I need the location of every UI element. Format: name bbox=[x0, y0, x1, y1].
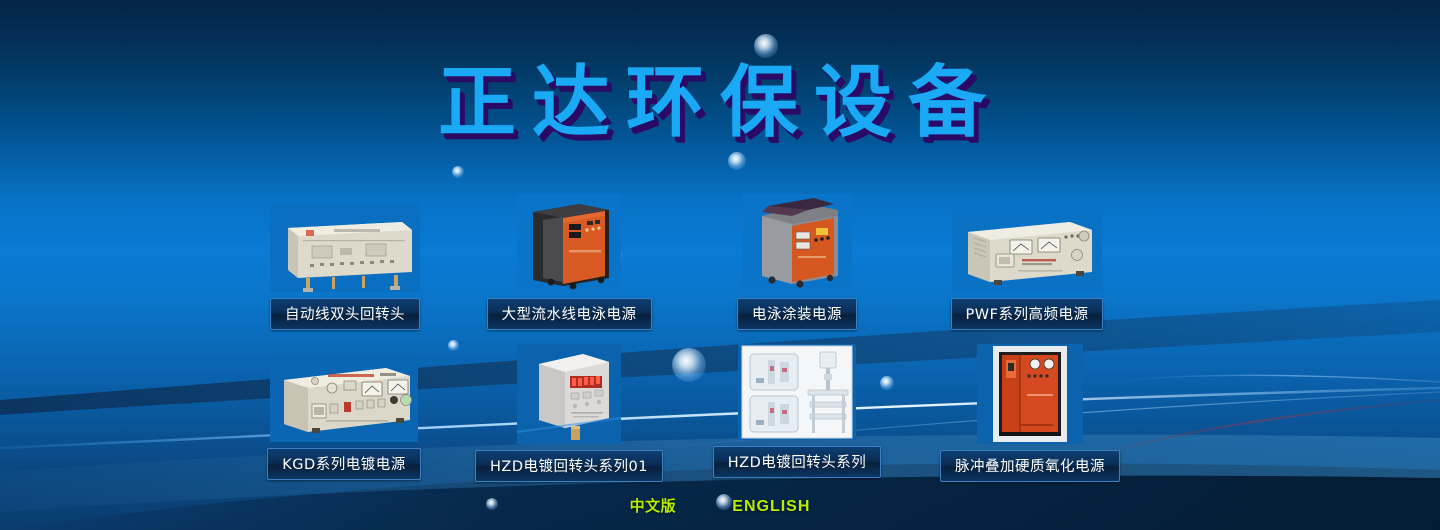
product-image-large-line-electrophoresis-power bbox=[517, 194, 621, 292]
product-image-kgd-plating-power bbox=[270, 354, 418, 442]
product-label[interactable]: KGD系列电镀电源 bbox=[267, 448, 420, 480]
product-card[interactable]: HZD电镀回转头系列01 bbox=[494, 344, 644, 482]
product-label[interactable]: 大型流水线电泳电源 bbox=[487, 298, 652, 330]
product-image-electrophoretic-coating-power bbox=[742, 194, 852, 292]
product-card[interactable]: 自动线双头回转头 bbox=[265, 204, 425, 330]
language-link-english[interactable]: ENGLISH bbox=[732, 498, 810, 515]
product-card[interactable]: PWF系列高频电源 bbox=[951, 210, 1103, 330]
language-link-chinese[interactable]: 中文版 bbox=[630, 498, 677, 515]
product-label[interactable]: 自动线双头回转头 bbox=[270, 298, 420, 330]
product-card[interactable]: 电泳涂装电源 bbox=[722, 194, 872, 330]
product-grid: 自动线双头回转头 大型流水线电泳电源 bbox=[0, 0, 1440, 530]
product-card[interactable]: 大型流水线电泳电源 bbox=[494, 194, 644, 330]
product-card[interactable]: HZD电镀回转头系列 bbox=[722, 344, 872, 478]
language-switcher: 中文版 ENGLISH bbox=[0, 495, 1440, 516]
product-card[interactable]: 脉冲叠加硬质氧化电源 bbox=[951, 344, 1109, 482]
product-label[interactable]: PWF系列高频电源 bbox=[951, 298, 1104, 330]
product-card[interactable]: KGD系列电镀电源 bbox=[268, 354, 420, 480]
product-image-pwf-high-frequency-power bbox=[952, 210, 1102, 292]
product-image-automatic-line-double-head-rotary bbox=[270, 204, 420, 292]
product-label[interactable]: HZD电镀回转头系列01 bbox=[475, 450, 663, 482]
page-root: 正达环保设备 bbox=[0, 0, 1440, 530]
product-image-hzd-rotary-head-series bbox=[738, 344, 856, 440]
product-label[interactable]: 电泳涂装电源 bbox=[737, 298, 857, 330]
product-image-hzd-rotary-head-series-01 bbox=[517, 344, 621, 444]
product-image-pulse-superimposed-hard-anodizing-power bbox=[977, 344, 1083, 444]
product-label[interactable]: 脉冲叠加硬质氧化电源 bbox=[940, 450, 1120, 482]
product-label[interactable]: HZD电镀回转头系列 bbox=[713, 446, 882, 478]
